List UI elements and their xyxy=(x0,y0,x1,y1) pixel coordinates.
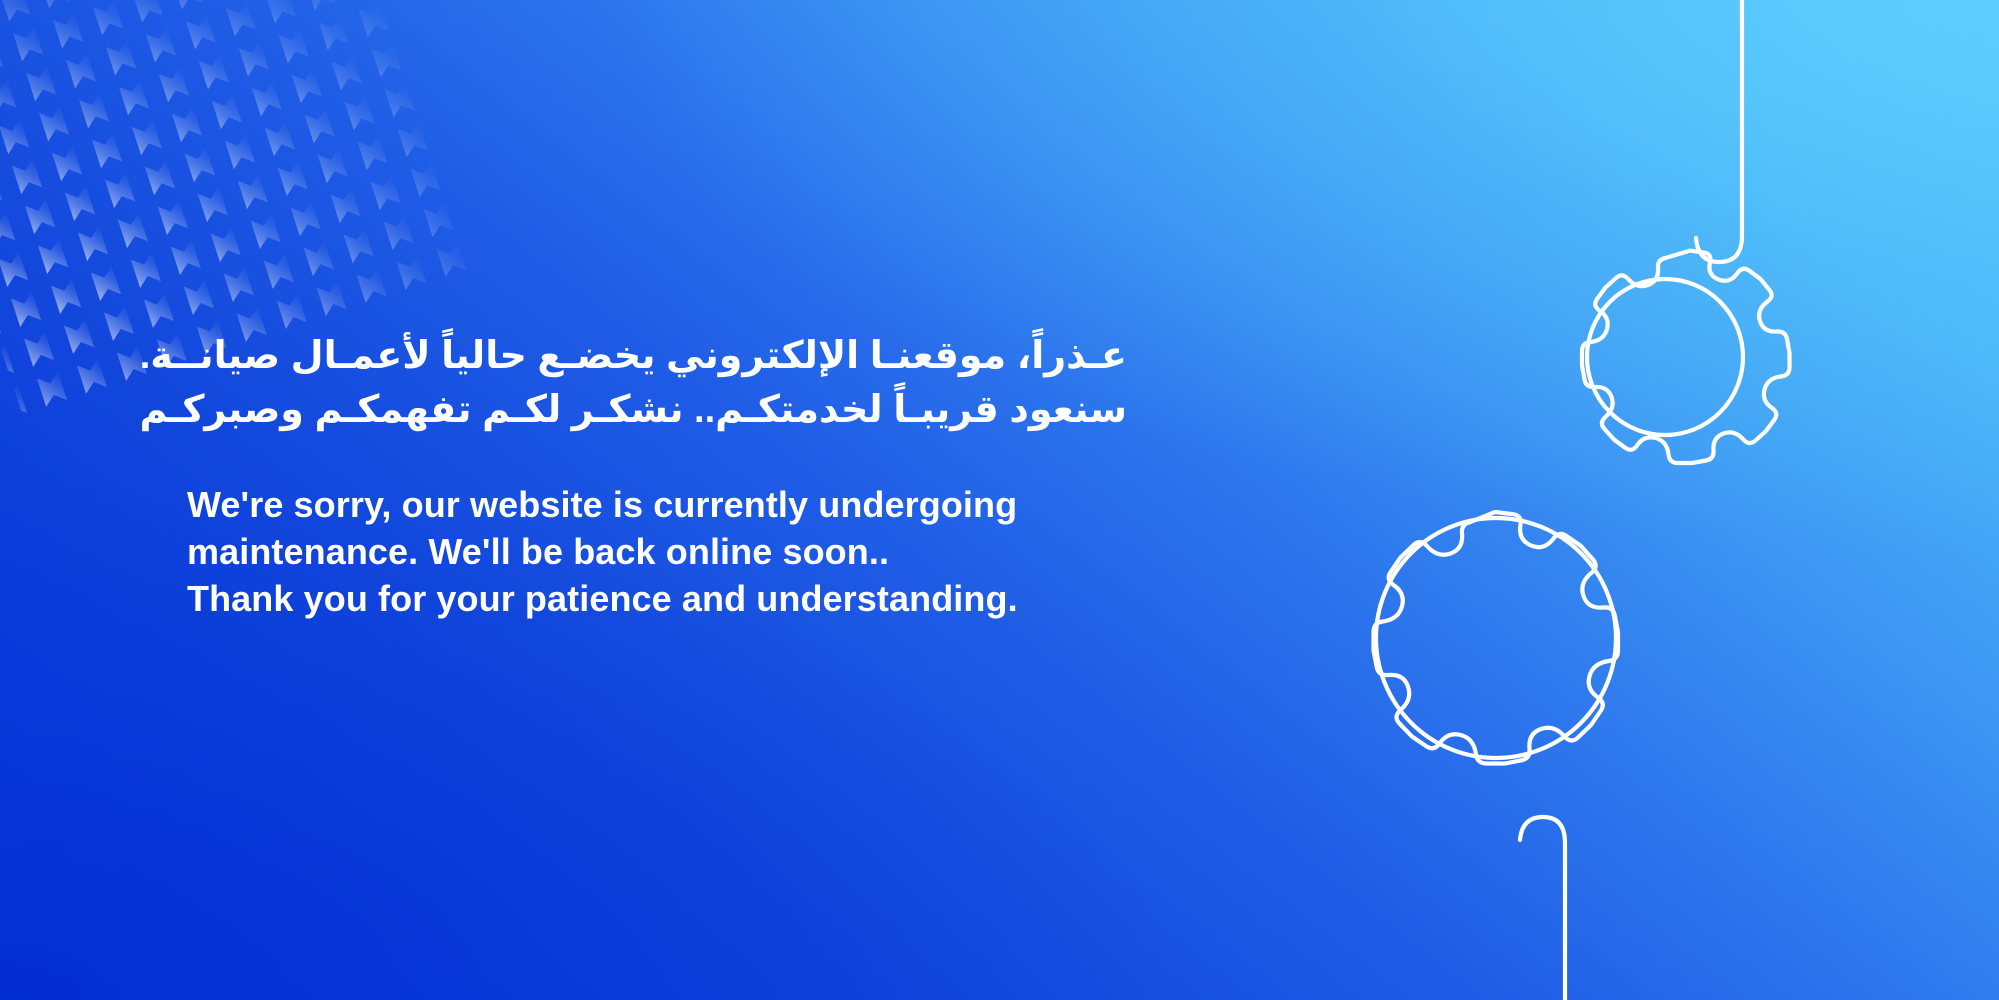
arabic-line-1: عـذراً، موقعنـا الإلكتروني يخضـع حالياً … xyxy=(187,330,1127,384)
maintenance-page: عـذراً، موقعنـا الإلكتروني يخضـع حالياً … xyxy=(0,0,1999,1000)
arabic-message: عـذراً، موقعنـا الإلكتروني يخضـع حالياً … xyxy=(187,330,1127,438)
english-line-3: Thank you for your patience and understa… xyxy=(187,576,1187,623)
english-line-1: We're sorry, our website is currently un… xyxy=(187,482,1187,529)
english-message: We're sorry, our website is currently un… xyxy=(187,482,1187,622)
english-line-2: maintenance. We'll be back online soon.. xyxy=(187,529,1187,576)
arabic-line-2: سنعود قريبـاً لخدمتكـم.. نشكـر لكـم تفهم… xyxy=(187,384,1127,438)
message-content: عـذراً، موقعنـا الإلكتروني يخضـع حالياً … xyxy=(187,330,1187,622)
